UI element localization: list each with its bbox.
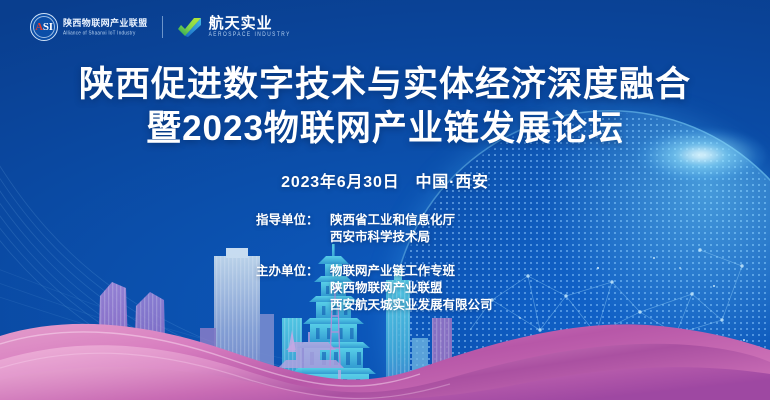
aerospace-en-name: AEROSPACE INDUSTRY	[209, 30, 291, 40]
event-meta: 2023年6月30日中国·西安	[0, 168, 770, 192]
host-unit-item: 物联网产业链工作专班	[330, 263, 493, 280]
host-unit-block: 主办单位： 物联网产业链工作专班 陕西物联网产业联盟 西安航天城实业发展有限公司	[256, 263, 514, 314]
guidance-unit-block: 指导单位： 陕西省工业和信息化厅 西安市科学技术局	[256, 212, 514, 246]
alliance-en-name: Alliance of Shaanxi IoT Industry	[63, 28, 148, 37]
alliance-logo[interactable]: ASI 陕西物联网产业联盟 Alliance of Shaanxi IoT In…	[30, 13, 148, 41]
guidance-unit-label: 指导单位：	[256, 212, 330, 229]
guidance-unit-values: 陕西省工业和信息化厅 西安市科学技术局	[330, 212, 455, 246]
host-unit-item: 陕西物联网产业联盟	[330, 280, 493, 297]
aerospace-cn-name: 航天实业	[209, 15, 291, 32]
asi-letter-a: A	[35, 21, 43, 33]
logo-divider	[162, 16, 163, 38]
logo-bar: ASI 陕西物联网产业联盟 Alliance of Shaanxi IoT In…	[30, 10, 291, 44]
host-unit-item: 西安航天城实业发展有限公司	[330, 297, 493, 314]
event-banner: ASI 陕西物联网产业联盟 Alliance of Shaanxi IoT In…	[0, 0, 770, 400]
event-title-line-1: 陕西促进数字技术与实体经济深度融合	[0, 63, 770, 107]
aerospace-check-mark-icon	[177, 16, 203, 38]
event-location: 中国·西安	[415, 174, 488, 191]
aerospace-logo[interactable]: 航天实业 AEROSPACE INDUSTRY	[177, 15, 291, 40]
event-date: 2023年6月30日	[281, 174, 399, 191]
host-unit-label: 主办单位：	[256, 263, 330, 280]
asi-letter-i: I	[49, 21, 53, 33]
asi-monogram-icon: ASI	[30, 13, 58, 41]
host-unit-values: 物联网产业链工作专班 陕西物联网产业联盟 西安航天城实业发展有限公司	[330, 263, 493, 314]
event-title-line-2: 暨2023物联网产业链发展论坛	[0, 107, 770, 151]
organizer-section: 指导单位： 陕西省工业和信息化厅 西安市科学技术局 主办单位： 物联网产业链工作…	[0, 212, 770, 314]
guidance-unit-item: 西安市科学技术局	[330, 229, 455, 246]
guidance-unit-item: 陕西省工业和信息化厅	[330, 212, 455, 229]
